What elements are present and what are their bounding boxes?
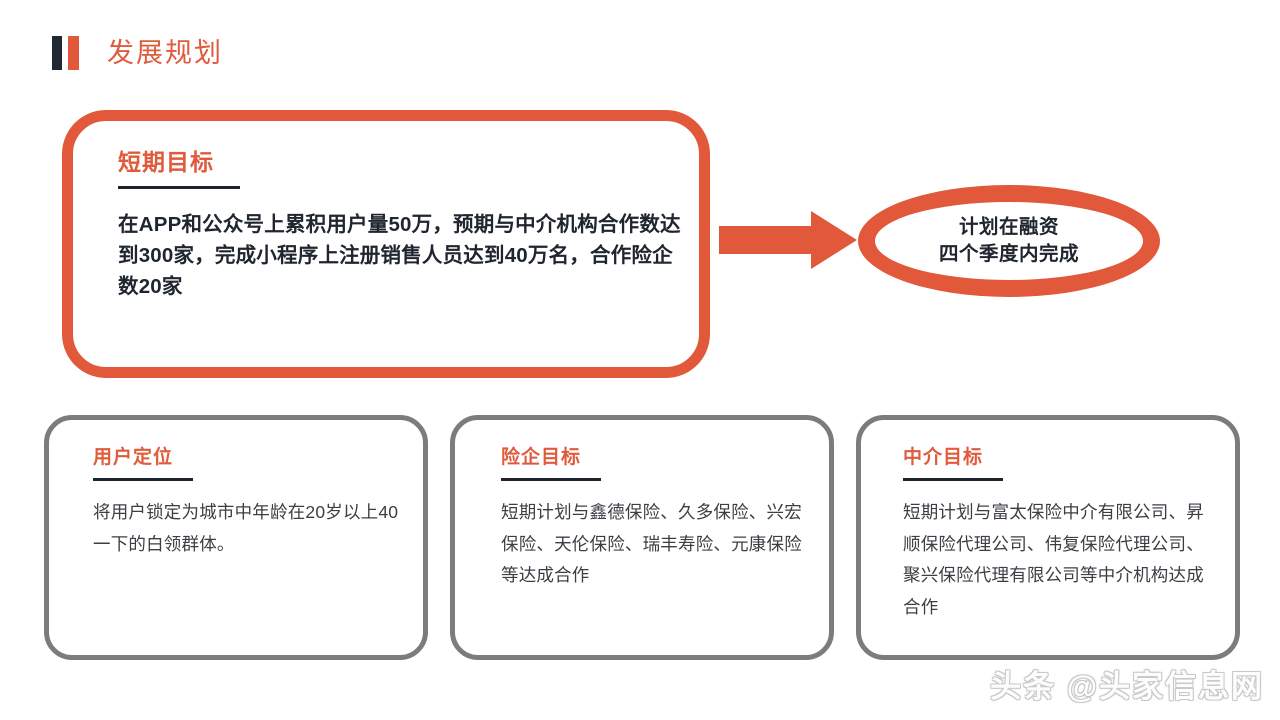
card-user-positioning: 用户定位 将用户锁定为城市中年龄在20岁以上40一下的白领群体。 [44, 415, 428, 660]
timeline-ellipse: 计划在融资 四个季度内完成 [858, 185, 1160, 297]
card-heading-underline [501, 478, 601, 481]
card-insurer-goal: 险企目标 短期计划与鑫德保险、久多保险、兴宏保险、天伦保险、瑞丰寿险、元康保险等… [450, 415, 834, 660]
ellipse-text-block: 计划在融资 四个季度内完成 [858, 185, 1160, 297]
short-term-goal-content: 短期目标 在APP和公众号上累积用户量50万，预期与中介机构合作数达到300家，… [118, 149, 669, 302]
short-term-goal-box: 短期目标 在APP和公众号上累积用户量50万，预期与中介机构合作数达到300家，… [62, 110, 710, 378]
right-arrow-icon [719, 211, 857, 269]
card-broker-goal: 中介目标 短期计划与富太保险中介有限公司、昇顺保险代理公司、伟复保险代理公司、聚… [856, 415, 1240, 660]
watermark: 头条 @头家信息网 [990, 661, 1264, 706]
page-title: 发展规划 [107, 40, 223, 67]
card-content: 中介目标 短期计划与富太保险中介有限公司、昇顺保险代理公司、伟复保险代理公司、聚… [903, 447, 1217, 624]
card-content: 用户定位 将用户锁定为城市中年龄在20岁以上40一下的白领群体。 [93, 447, 405, 560]
card-heading: 中介目标 [903, 447, 1217, 470]
accent-bar-dark-icon [52, 36, 62, 70]
card-heading-underline [903, 478, 1003, 481]
card-heading: 用户定位 [93, 447, 405, 470]
card-content: 险企目标 短期计划与鑫德保险、久多保险、兴宏保险、天伦保险、瑞丰寿险、元康保险等… [501, 447, 811, 592]
card-body: 短期计划与鑫德保险、久多保险、兴宏保险、天伦保险、瑞丰寿险、元康保险等达成合作 [501, 497, 811, 593]
short-term-goal-body: 在APP和公众号上累积用户量50万，预期与中介机构合作数达到300家，完成小程序… [118, 209, 683, 302]
ellipse-line-1: 计划在融资 [959, 214, 1059, 241]
short-term-goal-heading: 短期目标 [118, 149, 669, 177]
ellipse-line-2: 四个季度内完成 [939, 241, 1079, 268]
card-heading: 险企目标 [501, 447, 811, 470]
slide-header: 发展规划 [52, 28, 223, 78]
card-body: 将用户锁定为城市中年龄在20岁以上40一下的白领群体。 [93, 497, 405, 561]
slide-canvas: 发展规划 短期目标 在APP和公众号上累积用户量50万，预期与中介机构合作数达到… [0, 0, 1280, 720]
heading-underline [118, 186, 240, 189]
goal-cards-row: 用户定位 将用户锁定为城市中年龄在20岁以上40一下的白领群体。 险企目标 短期… [44, 415, 1240, 660]
card-heading-underline [93, 478, 193, 481]
accent-bar-orange-icon [68, 36, 79, 70]
card-body: 短期计划与富太保险中介有限公司、昇顺保险代理公司、伟复保险代理公司、聚兴保险代理… [903, 497, 1217, 624]
header-accent-bars [52, 36, 79, 70]
